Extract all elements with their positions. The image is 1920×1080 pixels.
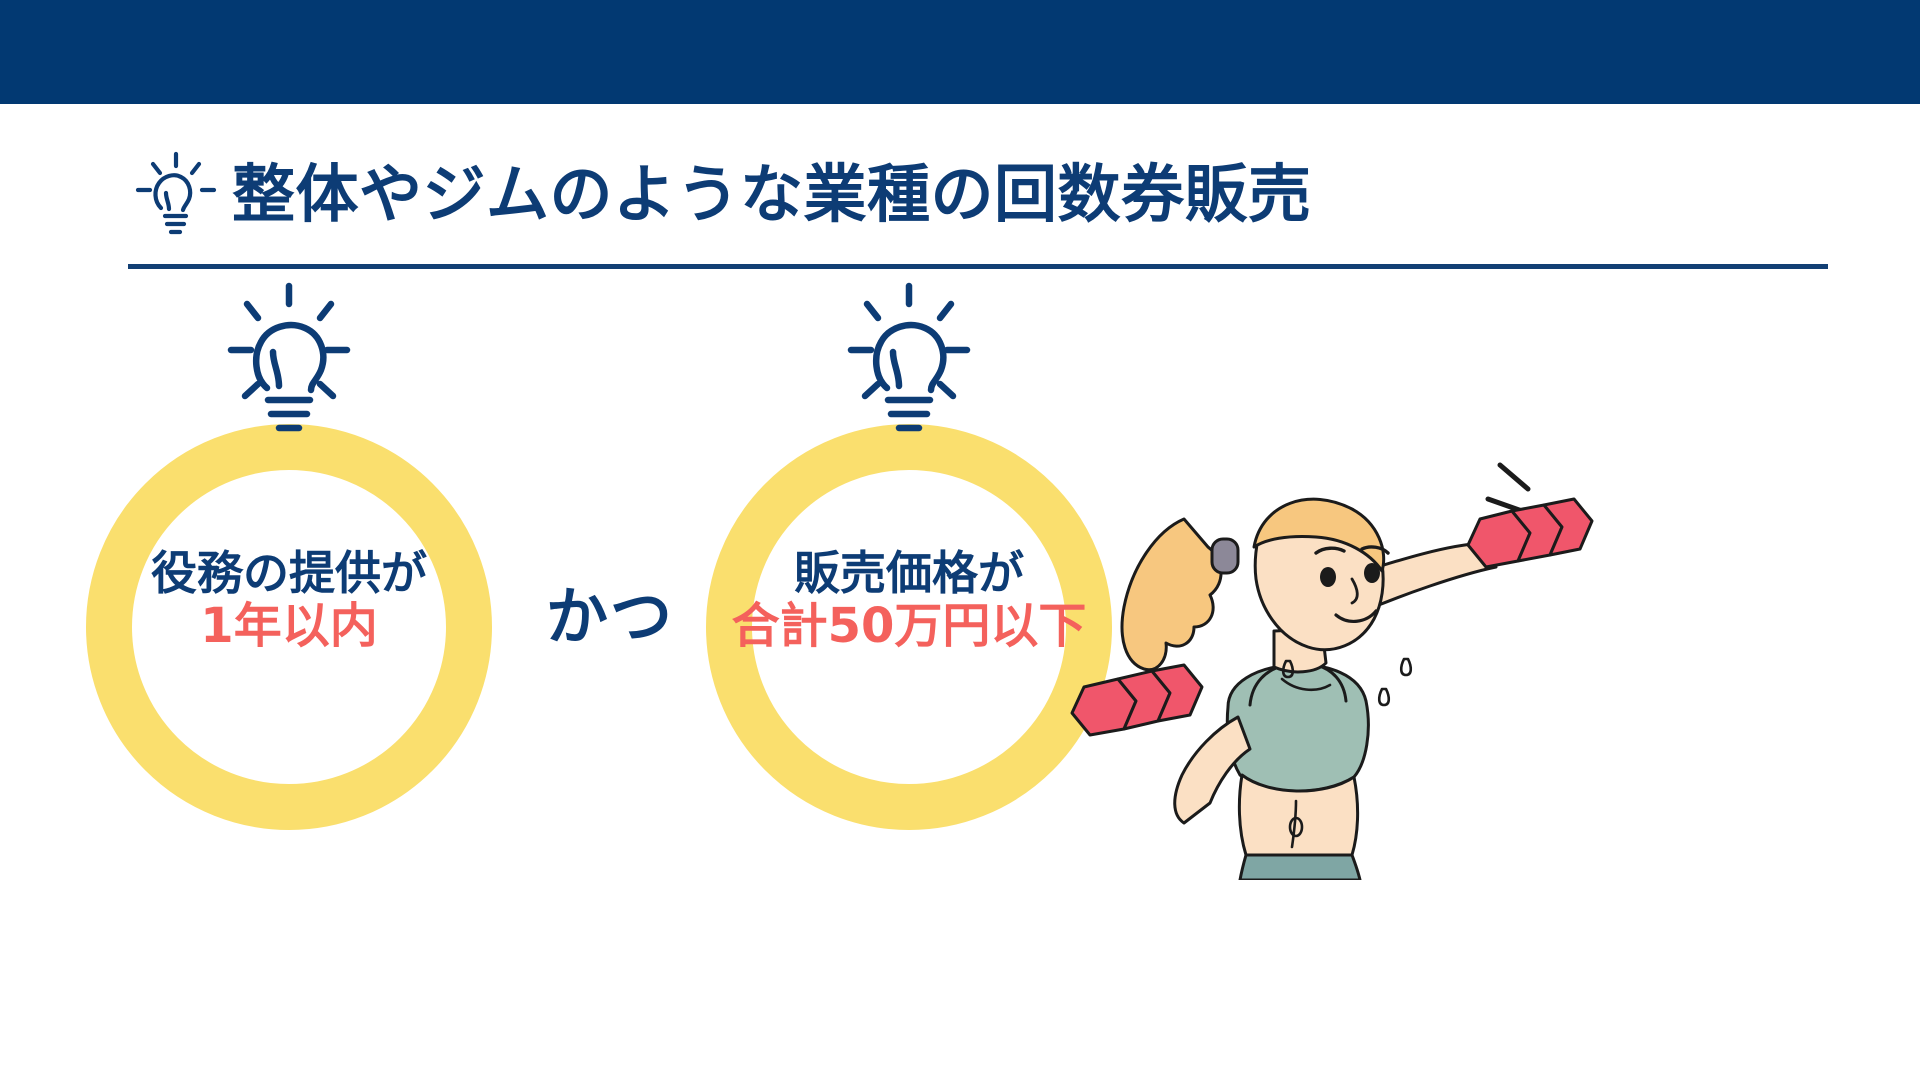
page-title: 整体やジムのような業種の回数券販売 [232, 163, 1312, 226]
woman-lifting-dumbbells-illustration [1060, 455, 1620, 880]
condition-circle-2: 販売価格が 合計50万円以下 [706, 424, 1112, 830]
condition-1-line2: 1年以内 [86, 600, 492, 654]
lightbulb-idea-icon [128, 146, 224, 242]
page-title-row: 整体やジムのような業種の回数券販売 [128, 146, 1828, 242]
top-navy-band [0, 0, 1920, 104]
condition-2-line2: 合計50万円以下 [706, 600, 1112, 654]
lightbulb-icon-2 [847, 280, 971, 446]
lightbulb-icon-1 [227, 280, 351, 446]
title-underline-rule [128, 264, 1828, 269]
condition-1-text: 役務の提供が 1年以内 [86, 548, 492, 653]
condition-1-line1: 役務の提供が [86, 548, 492, 600]
condition-circle-1: 役務の提供が 1年以内 [86, 424, 492, 830]
condition-2-line1: 販売価格が [706, 548, 1112, 600]
connector-label: かつ [520, 566, 700, 656]
condition-2-text: 販売価格が 合計50万円以下 [706, 548, 1112, 653]
